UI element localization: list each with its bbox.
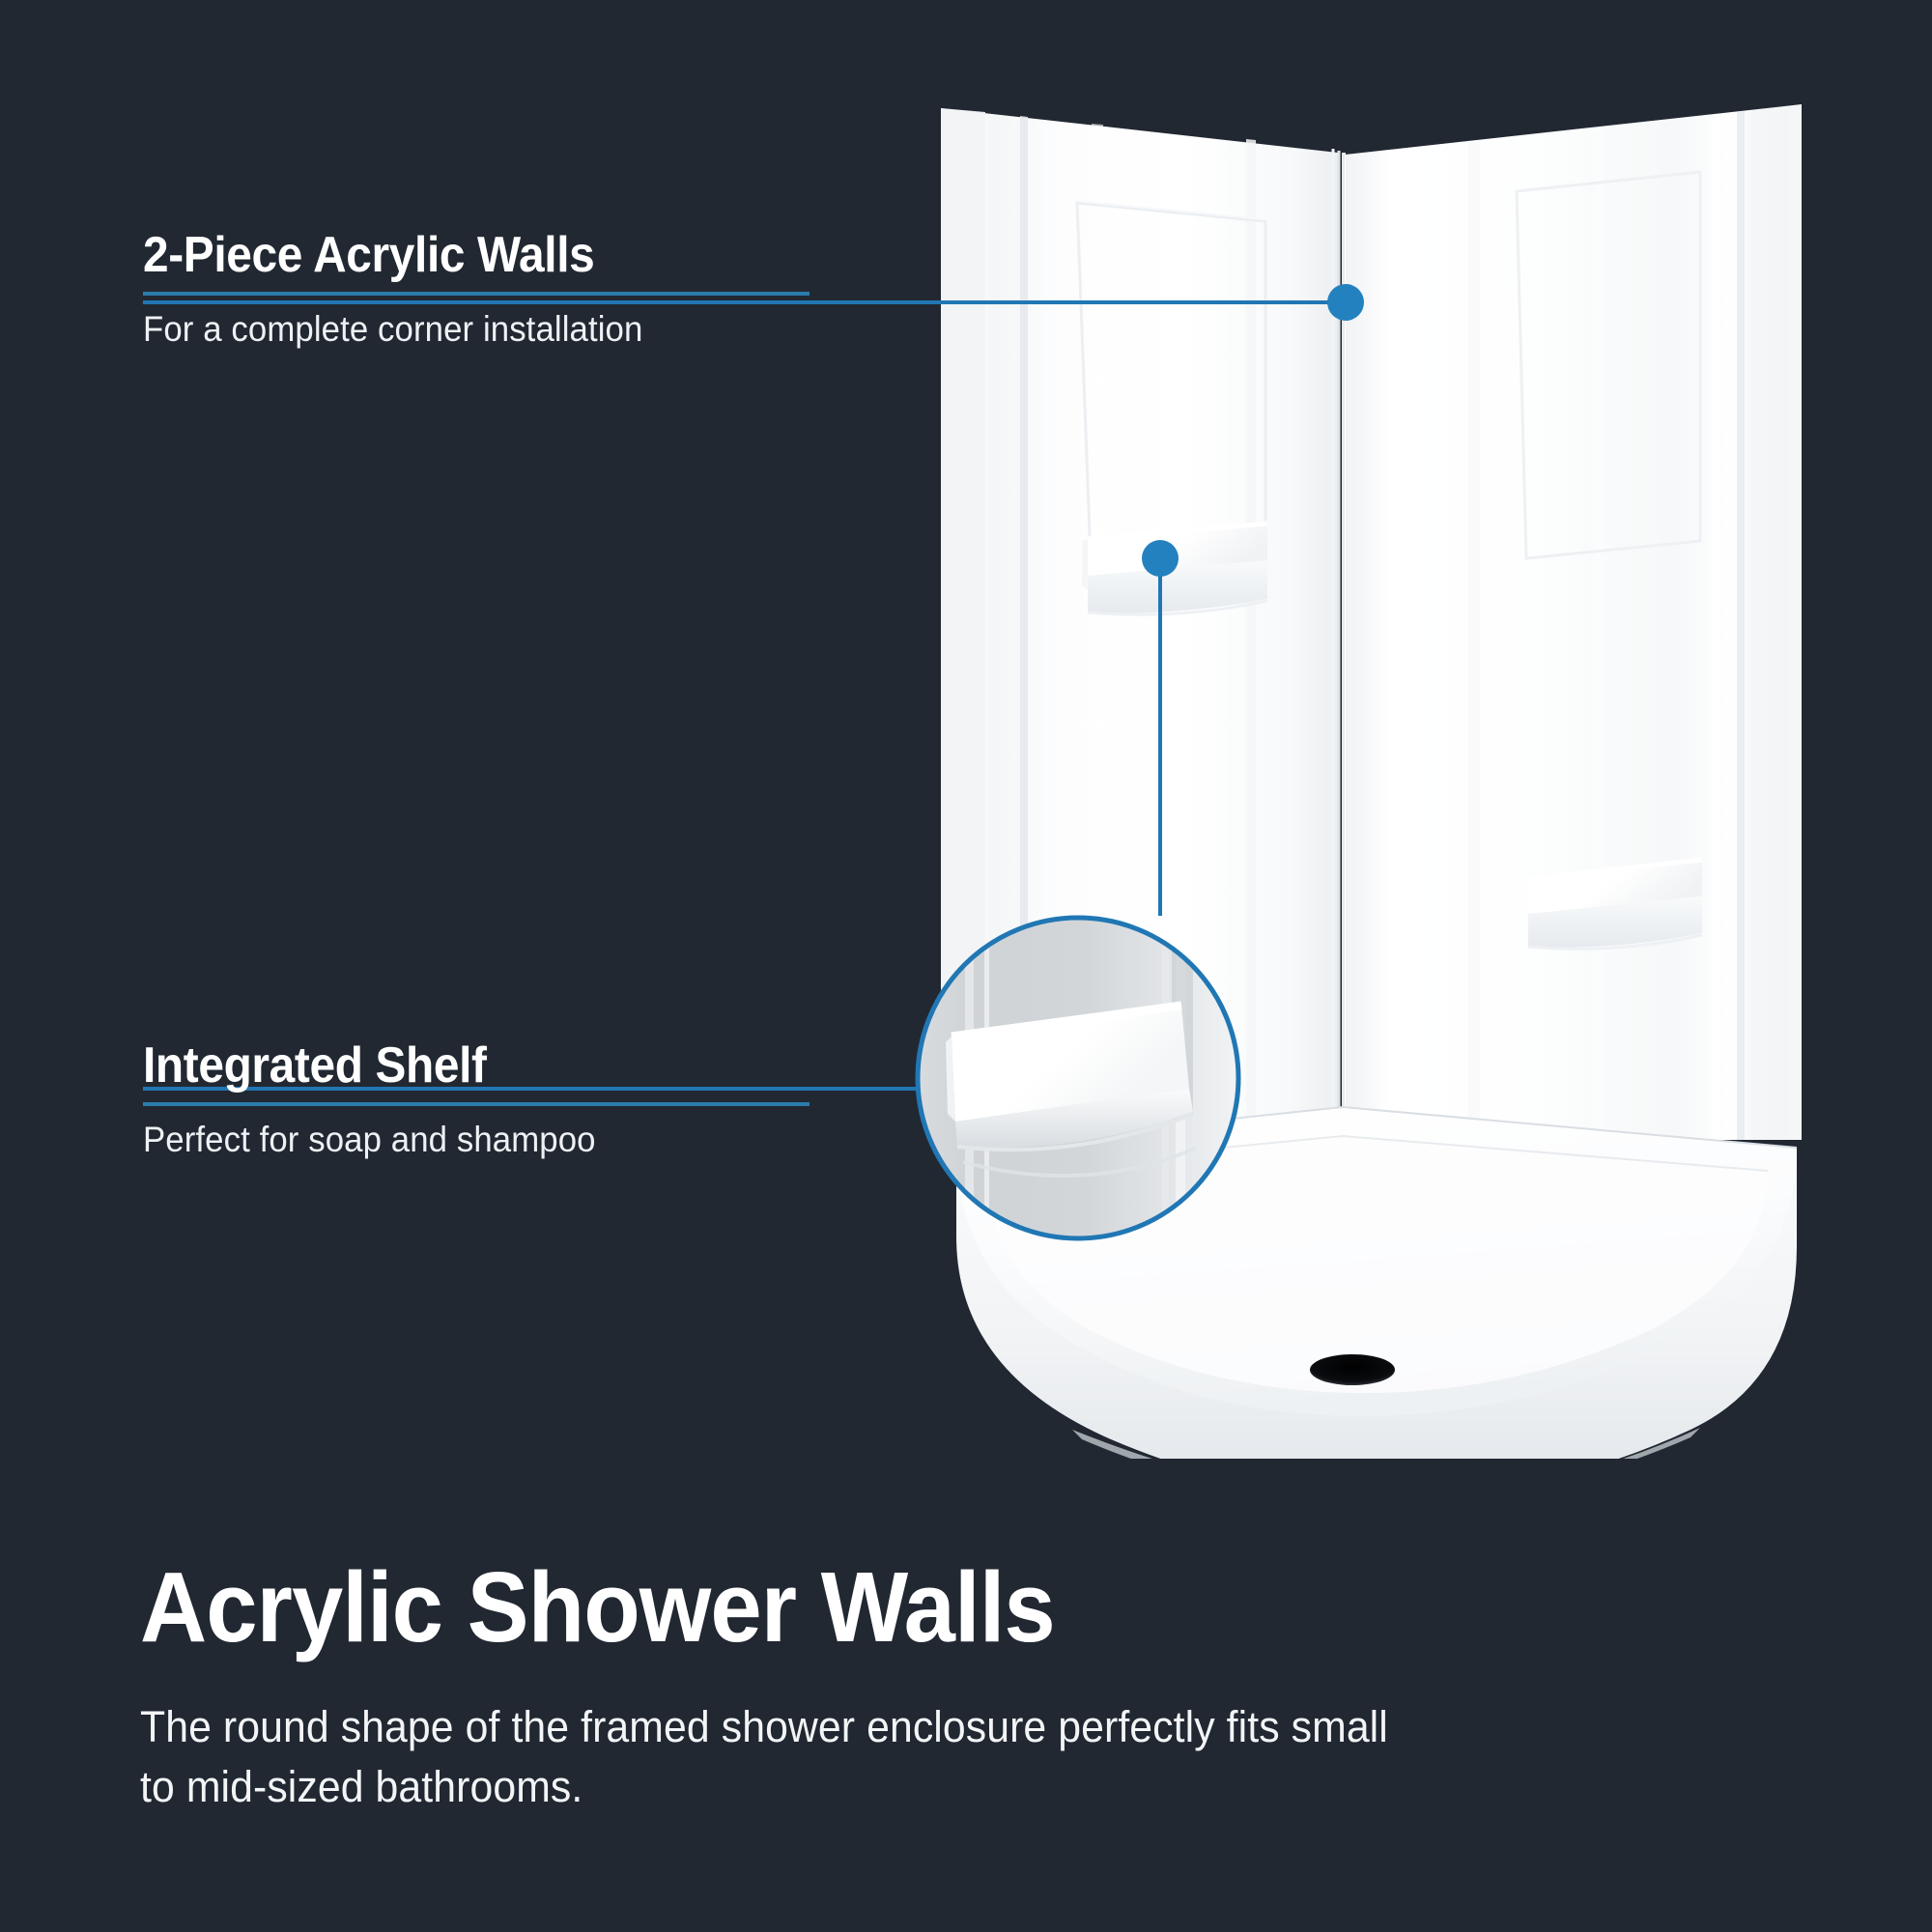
callout-subtitle-shelf: Perfect for soap and shampoo [143,1120,779,1161]
callout-rule-shelf [143,1102,810,1106]
page-description: The round shape of the framed shower enc… [140,1697,1388,1817]
page-title: Acrylic Shower Walls [140,1557,1488,1657]
callout-title-shelf: Integrated Shelf [143,1040,765,1092]
shelf-magnifier [913,913,1243,1243]
center-drain [1310,1354,1395,1385]
leader-line-shelf-vertical [1158,576,1162,916]
callout-subtitle-walls: For a complete corner installation [143,309,779,351]
callout-dot-walls [1327,284,1364,321]
callout-rule-walls [143,292,810,296]
right-acrylic-wall-panel [1345,104,1802,1140]
bottom-text-block: Acrylic Shower Walls The round shape of … [140,1557,1589,1817]
callout-two-piece-acrylic-walls: 2-Piece Acrylic Walls For a complete cor… [143,230,819,351]
callout-integrated-shelf: Integrated Shelf Perfect for soap and sh… [143,1040,819,1161]
product-illustration [927,87,1816,1459]
callout-title-walls: 2-Piece Acrylic Walls [143,230,765,281]
callout-dot-shelf [1142,540,1179,577]
infographic-canvas: 2-Piece Acrylic Walls For a complete cor… [0,0,1932,1932]
